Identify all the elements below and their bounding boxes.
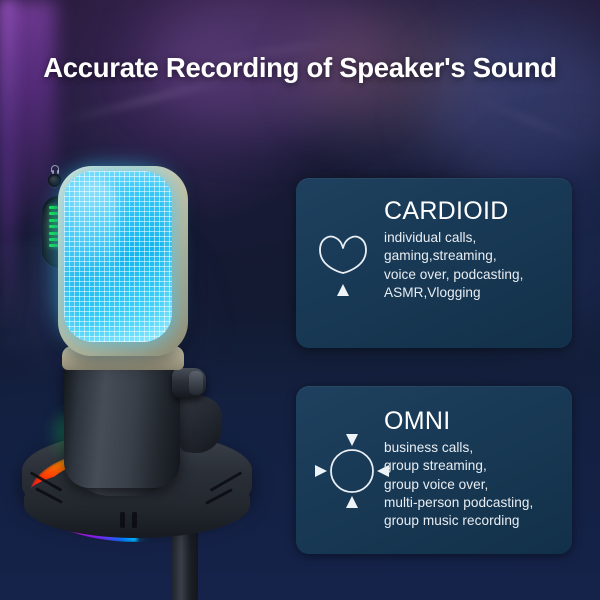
product-feature-image: Accurate Recording of Speaker's Sound [0, 0, 600, 600]
polar-pattern-card-cardioid[interactable]: CARDIOID individual calls, gaming,stream… [296, 178, 572, 348]
polar-pattern-card-omni[interactable]: OMNI business calls, group streaming, gr… [296, 386, 572, 554]
microphone-product-image [12, 150, 282, 600]
cardioid-heading: CARDIOID [384, 198, 564, 224]
cardioid-polar-pattern-icon [310, 228, 376, 300]
omni-text-block: OMNI business calls, group streaming, gr… [384, 408, 564, 530]
list-item: business calls, [384, 439, 564, 457]
cardioid-uses-list: individual calls, gaming,streaming, voic… [384, 229, 564, 302]
list-item: multi-person podcasting, [384, 494, 564, 512]
mic-head-highlight [72, 180, 118, 300]
base-groove [120, 512, 125, 528]
mic-body [64, 356, 180, 488]
base-groove [132, 512, 137, 528]
volume-knob-face[interactable] [189, 371, 203, 395]
list-item: group streaming, [384, 457, 564, 475]
omni-heading: OMNI [384, 408, 564, 434]
list-item: group voice over, [384, 476, 564, 494]
list-item: individual calls, [384, 229, 564, 247]
omni-uses-list: business calls, group streaming, group v… [384, 439, 564, 530]
page-title: Accurate Recording of Speaker's Sound [0, 52, 600, 84]
list-item: voice over, podcasting, [384, 266, 564, 284]
list-item: ASMR,Vlogging [384, 284, 564, 302]
cardioid-text-block: CARDIOID individual calls, gaming,stream… [384, 198, 564, 302]
omni-polar-pattern-icon [310, 426, 394, 516]
list-item: gaming,streaming, [384, 247, 564, 265]
list-item: group music recording [384, 512, 564, 530]
mic-head [58, 166, 188, 356]
